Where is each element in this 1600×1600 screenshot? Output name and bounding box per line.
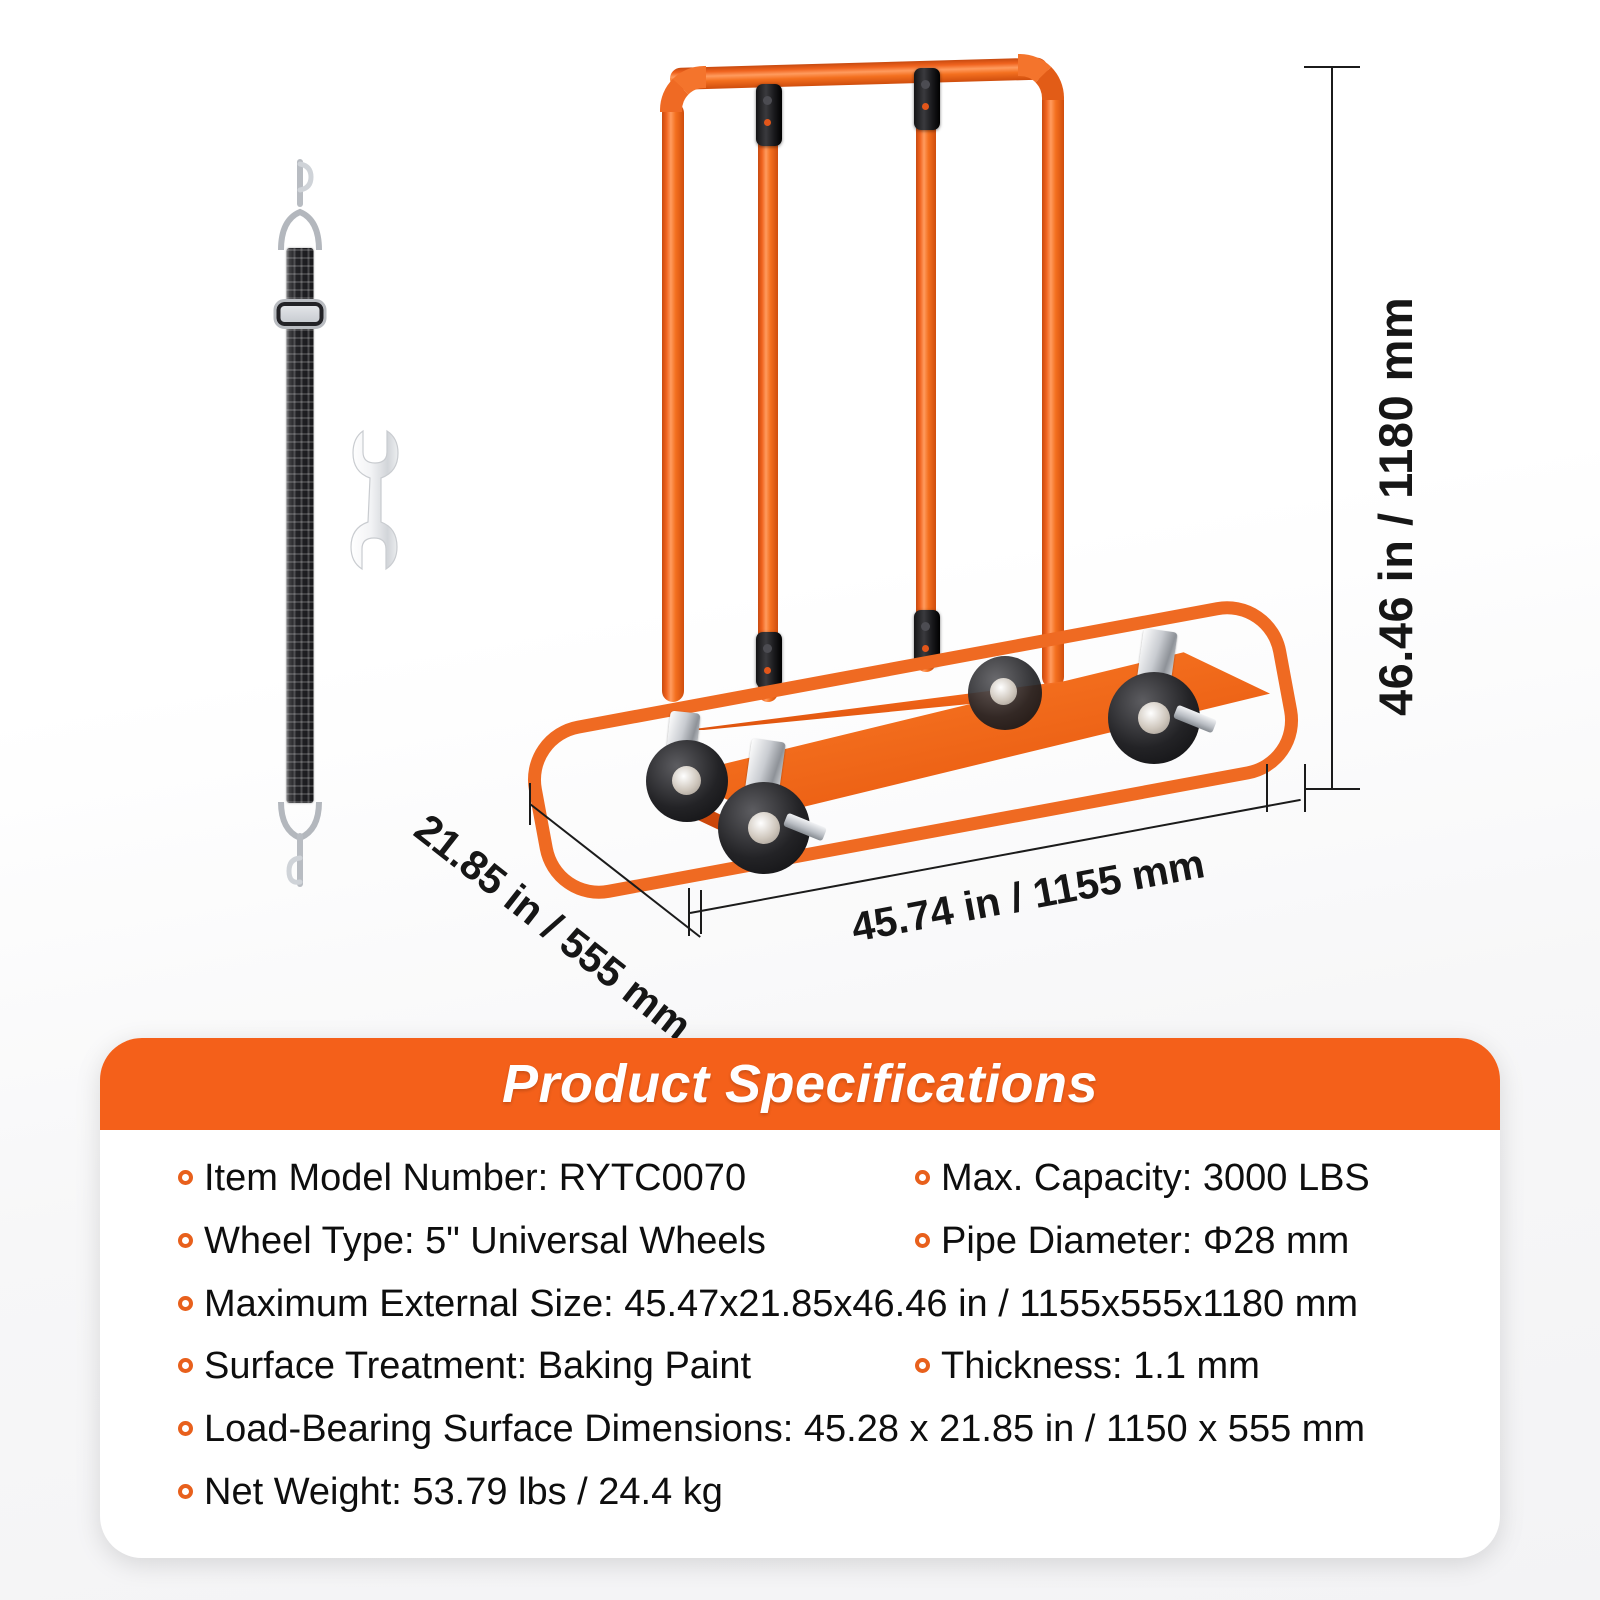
spec-label: Max. Capacity: 3000 LBS — [941, 1156, 1370, 1201]
spec-item-wheel-type: Wheel Type: 5" Universal Wheels — [100, 1219, 915, 1264]
spec-label: Pipe Diameter: Φ28 mm — [941, 1219, 1349, 1264]
strap-slider-buckle — [274, 299, 327, 329]
bullet-icon — [178, 1358, 193, 1373]
spec-row: Surface Treatment: Baking Paint Thicknes… — [100, 1344, 1500, 1389]
bullet-icon — [178, 1233, 193, 1248]
wrench-icon — [340, 418, 410, 578]
cart-upright-right-outer — [1042, 88, 1064, 688]
cart-clamp-bracket-bottom-left — [756, 632, 782, 688]
strap-top-hook-icon — [270, 158, 330, 258]
product-specifications-card: Product Specifications Item Model Number… — [100, 1038, 1500, 1558]
spec-item-thickness: Thickness: 1.1 mm — [915, 1344, 1260, 1389]
spec-label: Net Weight: 53.79 lbs / 24.4 kg — [204, 1470, 723, 1515]
spec-item-surface-treatment: Surface Treatment: Baking Paint — [100, 1344, 915, 1389]
dimension-height-tick-bottom — [1304, 788, 1360, 790]
cart-upright-inner-left — [758, 112, 778, 702]
bullet-icon — [915, 1358, 930, 1373]
dimension-depth-tick-lower — [700, 890, 702, 934]
drywall-cart-image — [520, 40, 1310, 880]
specifications-list: Item Model Number: RYTC0070 Max. Capacit… — [100, 1130, 1500, 1515]
page-title: Product Specifications — [502, 1053, 1098, 1115]
spec-label: Wheel Type: 5" Universal Wheels — [204, 1219, 766, 1264]
spec-label: Thickness: 1.1 mm — [941, 1344, 1260, 1389]
spec-item-model-number: Item Model Number: RYTC0070 — [100, 1156, 915, 1201]
dimension-width-tick-right — [1304, 764, 1306, 812]
spec-label: Maximum External Size: 45.47x21.85x46.46… — [204, 1282, 1358, 1327]
spec-row: Item Model Number: RYTC0070 Max. Capacit… — [100, 1156, 1500, 1201]
cart-upright-left-outer — [662, 102, 684, 702]
dimension-height-label: 46.46 in / 1180 mm — [1368, 297, 1423, 716]
spec-label: Item Model Number: RYTC0070 — [204, 1156, 746, 1201]
caster-hub-right-rear — [990, 678, 1017, 705]
cart-upright-inner-right — [916, 96, 936, 672]
spec-label: Load-Bearing Surface Dimensions: 45.28 x… — [204, 1407, 1365, 1452]
dimension-depth-tick-upper — [529, 783, 531, 825]
card-header-bar: Product Specifications — [100, 1038, 1500, 1130]
spec-item-max-capacity: Max. Capacity: 3000 LBS — [915, 1156, 1370, 1201]
bullet-icon — [178, 1170, 193, 1185]
bullet-icon — [178, 1484, 193, 1499]
spec-item-pipe-diameter: Pipe Diameter: Φ28 mm — [915, 1219, 1349, 1264]
dimension-height-line — [1331, 66, 1333, 790]
wrench-accessory — [340, 418, 410, 578]
spec-item-load-bearing-surface-dimensions: Load-Bearing Surface Dimensions: 45.28 x… — [100, 1407, 1365, 1452]
cart-handle-corner-right — [1018, 54, 1064, 100]
infographic-canvas: 46.46 in / 1180 mm 45.74 in / 1155 mm 21… — [0, 0, 1600, 1600]
strap-bottom-hook-icon — [270, 798, 330, 903]
spec-label: Surface Treatment: Baking Paint — [204, 1344, 751, 1389]
cart-top-handle-bar — [670, 57, 1048, 90]
bullet-icon — [178, 1296, 193, 1311]
spec-row: Net Weight: 53.79 lbs / 24.4 kg — [100, 1470, 1500, 1515]
cart-handle-corner-left — [660, 66, 706, 112]
bullet-icon — [178, 1421, 193, 1436]
caster-hub-front-left — [748, 812, 780, 844]
spec-row: Load-Bearing Surface Dimensions: 45.28 x… — [100, 1407, 1500, 1452]
strap-webbing — [287, 248, 314, 803]
cart-clamp-bracket-top-right — [914, 68, 940, 130]
spec-item-maximum-external-size: Maximum External Size: 45.47x21.85x46.46… — [100, 1282, 1358, 1327]
spec-item-net-weight: Net Weight: 53.79 lbs / 24.4 kg — [100, 1470, 723, 1515]
caster-hub-left-rear — [672, 766, 701, 795]
caster-hub-right-front — [1138, 702, 1170, 734]
bullet-icon — [915, 1233, 930, 1248]
strap-accessory — [268, 158, 332, 878]
bullet-icon — [915, 1170, 930, 1185]
dimension-height-tick-top — [1304, 66, 1360, 68]
spec-row: Maximum External Size: 45.47x21.85x46.46… — [100, 1282, 1500, 1327]
cart-clamp-bracket-top-left — [756, 84, 782, 146]
spec-row: Wheel Type: 5" Universal Wheels Pipe Dia… — [100, 1219, 1500, 1264]
